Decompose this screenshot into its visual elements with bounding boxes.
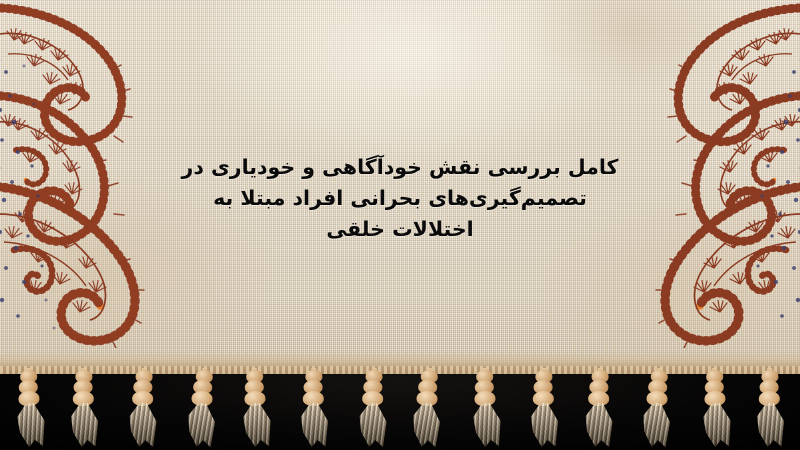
tassel-skirt — [357, 403, 388, 448]
tassel-skirt — [701, 402, 733, 448]
fringe-tassel — [182, 367, 221, 449]
fringe-tassel — [527, 368, 563, 449]
fringe-tassel — [581, 368, 617, 449]
title-line-3: اختلالات خلقی — [150, 214, 650, 245]
fringe-tassel — [125, 368, 161, 449]
fringe-tassel — [697, 367, 736, 449]
fringe-tassel — [408, 367, 447, 449]
tassel-skirt — [15, 402, 47, 448]
tassel-skirt — [184, 402, 216, 448]
tassel-skirt — [299, 403, 330, 448]
page-title: کامل بررسی نقش خودآگاهی و خودیاری در تصم… — [150, 152, 650, 245]
tassel-skirt — [240, 402, 272, 448]
tassel-skirt — [640, 402, 672, 448]
fringe-tassel — [355, 368, 391, 449]
tassel-skirt — [529, 403, 560, 448]
tassel-skirt — [755, 403, 786, 448]
tassel-fringe — [0, 368, 800, 450]
tassel-skirt — [470, 402, 502, 448]
fringe-tassel — [466, 367, 505, 449]
tassel-skirt — [127, 403, 158, 448]
fringe-tassel — [638, 367, 677, 449]
title-card-canvas: کامل بررسی نقش خودآگاهی و خودیاری در تصم… — [0, 0, 800, 450]
fringe-tassel — [297, 368, 333, 449]
tassel-skirt — [583, 403, 614, 448]
fringe-tassel — [236, 367, 275, 449]
fringe-tassel — [752, 368, 788, 449]
title-line-2: تصمیم‌گیری‌های بحرانی افراد مبتلا به — [150, 183, 650, 214]
tassel-skirt — [410, 402, 442, 448]
title-line-1: کامل بررسی نقش خودآگاهی و خودیاری در — [150, 152, 650, 183]
tassel-skirt — [69, 403, 100, 448]
fringe-tassel — [66, 368, 102, 449]
fringe-tassel — [11, 367, 50, 449]
